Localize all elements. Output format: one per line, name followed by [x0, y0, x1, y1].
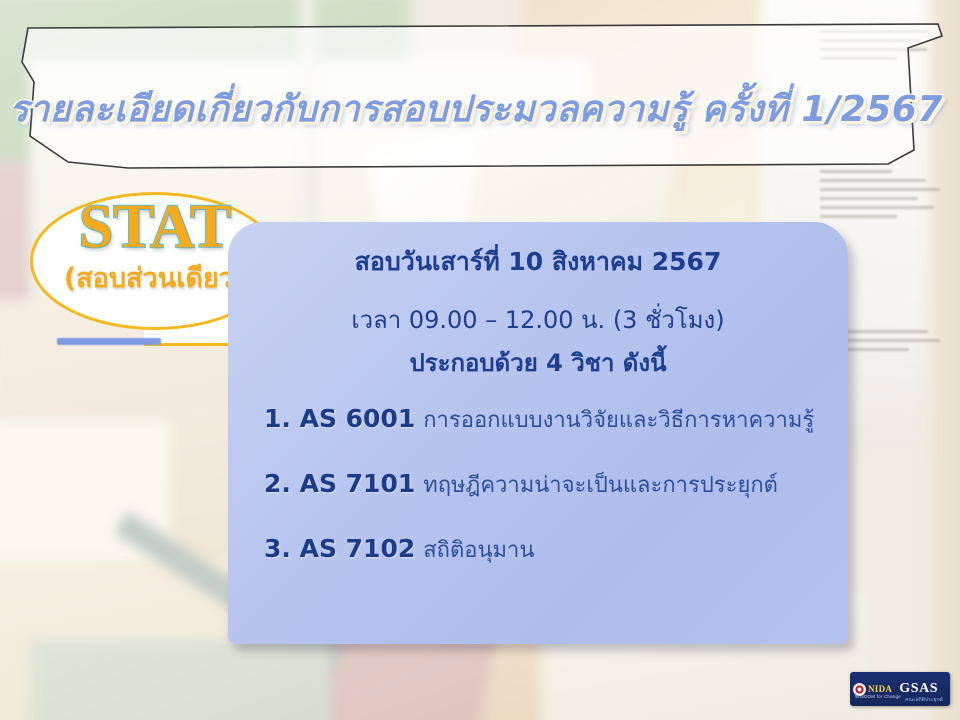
list-item: 3. AS 7102สถิติอนุมาน: [264, 532, 834, 567]
course-code: 2. AS 7101: [264, 469, 415, 498]
nida-gsas-badge: NIDA GSAS WISDOM for Change คณะสถิติประย…: [850, 672, 950, 706]
background-green-wedge: [30, 640, 330, 720]
subject-count: ประกอบด้วย 4 วิชา ดังนี้: [228, 343, 848, 382]
course-name: สถิติอนุมาน: [423, 538, 534, 563]
background-print-text-mid: [820, 170, 940, 224]
exam-header: สอบวันเสาร์ที่ 10 สิงหาคม 2567 เวลา 09.0…: [228, 242, 848, 400]
exam-info-panel: สอบวันเสาร์ที่ 10 สิงหาคม 2567 เวลา 09.0…: [228, 222, 848, 644]
badge-org-tagline: WISDOM for Change: [855, 694, 901, 699]
badge-unit-subtitle: คณะสถิติประยุกต์: [905, 696, 943, 704]
badge-unit-name: GSAS: [899, 681, 938, 697]
list-item: 1. AS 6001การออกแบบงานวิจัยและวิธีการหาค…: [264, 402, 834, 437]
list-item: 2. AS 7101ทฤษฎีความน่าจะเป็นและการประยุก…: [264, 467, 834, 502]
badge-org-name: NIDA: [868, 684, 892, 694]
course-code: 3. AS 7102: [264, 534, 415, 563]
title-banner: รายละเอียดเกี่ยวกับการสอบประมวลความรู้ ค…: [8, 22, 944, 170]
course-name: การออกแบบงานวิจัยและวิธีการหาความรู้: [423, 408, 814, 433]
course-list: 1. AS 6001การออกแบบงานวิจัยและวิธีการหาค…: [264, 402, 834, 597]
page-title: รายละเอียดเกี่ยวกับการสอบประมวลความรู้ ค…: [8, 80, 944, 137]
exam-date: สอบวันเสาร์ที่ 10 สิงหาคม 2567: [228, 242, 848, 282]
slide-canvas: รายละเอียดเกี่ยวกับการสอบประมวลความรู้ ค…: [0, 0, 960, 720]
stat-underline-bar: [57, 338, 161, 345]
course-code: 1. AS 6001: [264, 404, 415, 433]
course-name: ทฤษฎีความน่าจะเป็นและการประยุกต์: [423, 473, 778, 498]
exam-time: เวลา 09.00 – 12.00 น. (3 ชั่วโมง): [228, 300, 848, 339]
